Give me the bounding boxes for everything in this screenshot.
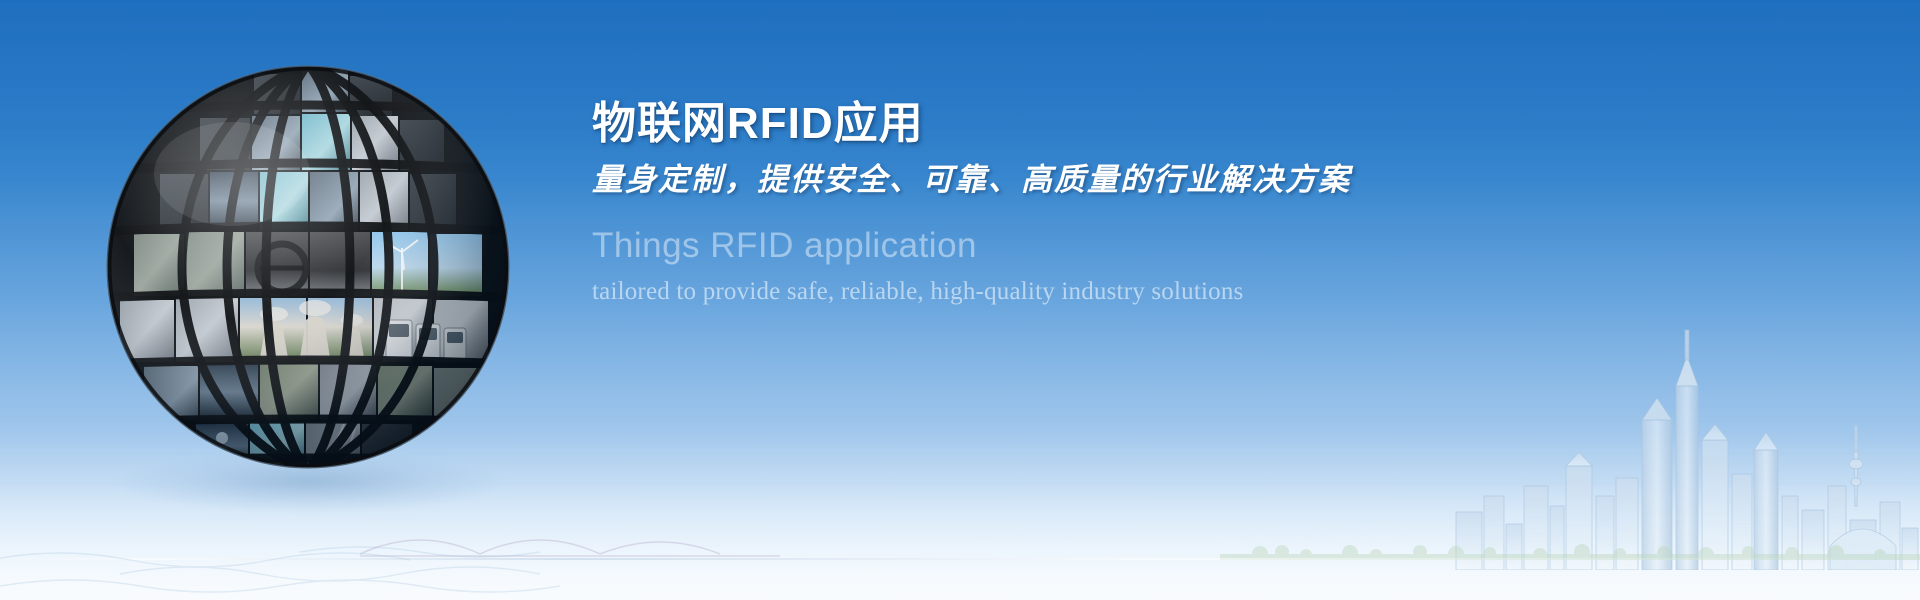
water-ripples [0,534,1920,594]
city-skyline-icon [1450,300,1920,570]
banner-copy: 物联网RFID应用 量身定制，提供安全、可靠、高质量的行业解决方案 Things… [592,100,1892,306]
page-title-en: Things RFID application [592,227,1892,266]
page-subtitle-cn: 量身定制，提供安全、可靠、高质量的行业解决方案 [592,162,1892,198]
page-subtitle-en: tailored to provide safe, reliable, high… [592,278,1892,307]
photo-mosaic-globe-icon [104,62,512,472]
iot-rfid-hero-banner: 物联网RFID应用 量身定制，提供安全、可靠、高质量的行业解决方案 Things… [0,0,1920,600]
page-title: 物联网RFID应用 [592,100,1892,148]
